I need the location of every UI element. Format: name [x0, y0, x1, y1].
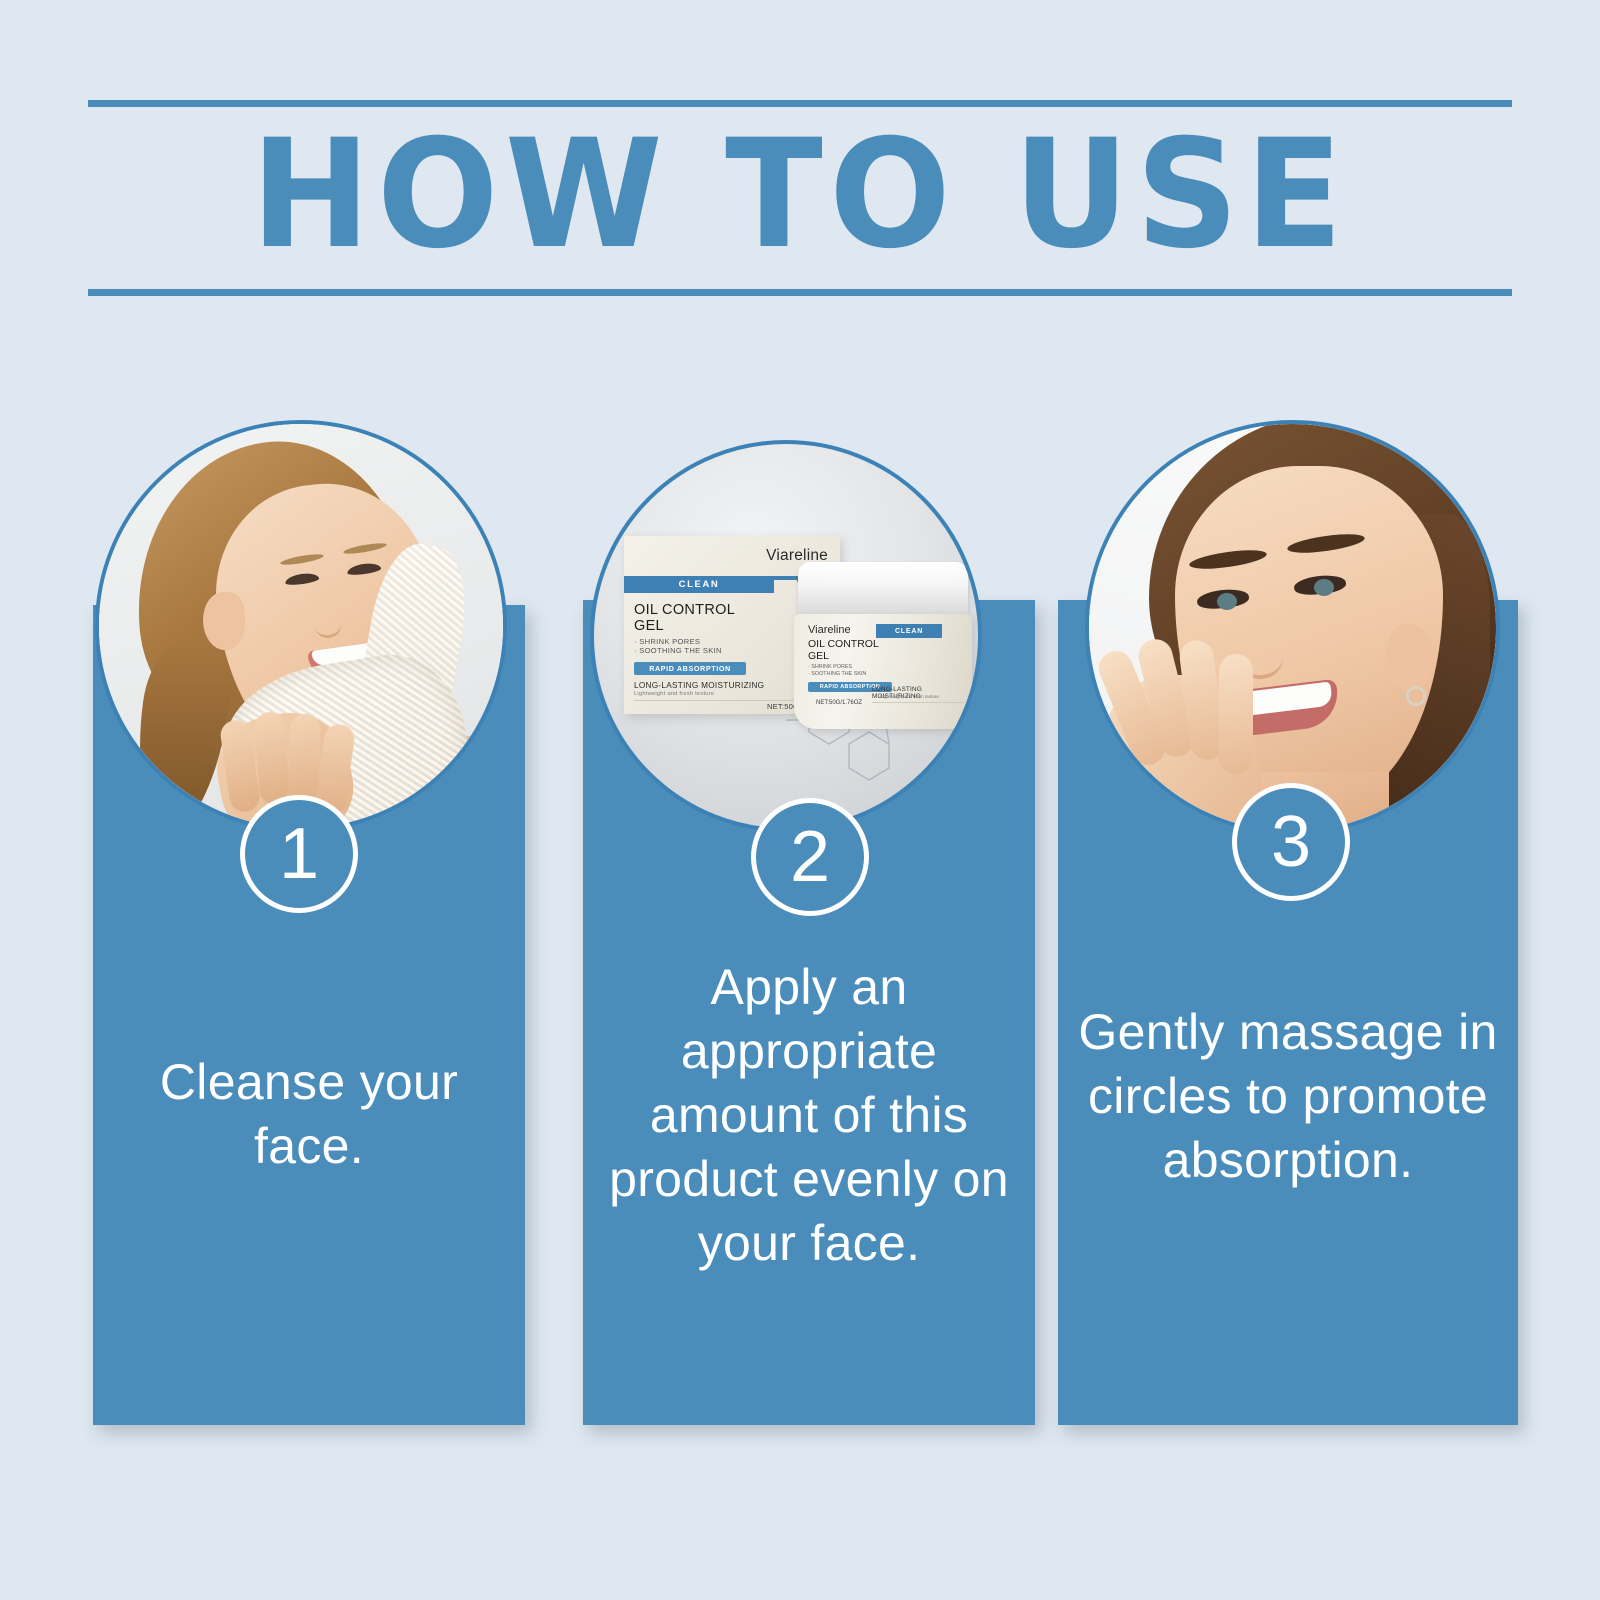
product-bullets-box: · SHRINK PORES · SOOTHING THE SKIN	[634, 637, 722, 656]
step-caption-1: Cleanse your face.	[113, 1050, 505, 1178]
header: HOW TO USE	[88, 100, 1512, 296]
product-name-line2-box: GEL	[634, 618, 735, 634]
product-banner-jar: CLEAN	[876, 624, 942, 638]
product-jar: Viareline OIL CONTROL GEL · SHRINK PORES…	[794, 562, 972, 732]
title-rule-bottom	[88, 289, 1512, 296]
infographic-root: HOW TO USE 1 Cleanse your face.	[0, 0, 1600, 1600]
product-pill-box: RAPID ABSORPTION	[634, 662, 746, 675]
photo-woman-massage	[1089, 424, 1496, 831]
jar-body: Viareline OIL CONTROL GEL · SHRINK PORES…	[794, 614, 972, 729]
product-name-line1-jar: OIL CONTROL	[808, 638, 879, 650]
product-banner-label-jar: CLEAN	[876, 624, 942, 638]
product-bullet1-jar: · SHRINK PORES	[808, 664, 866, 671]
page-title: HOW TO USE	[45, 107, 1554, 289]
step-caption-2: Apply an appropriate amount of this prod…	[603, 955, 1015, 1275]
product-name-jar: OIL CONTROL GEL	[808, 638, 879, 662]
photo-woman-towel	[99, 424, 503, 828]
product-bullets-jar: · SHRINK PORES · SOOTHING THE SKIN	[808, 664, 866, 678]
product-banner-box: CLEAN	[624, 576, 774, 593]
product-name-line2-jar: GEL	[808, 650, 879, 662]
step-image-2: Viareline CLEAN OIL CONTROL GEL · SHRINK…	[590, 440, 982, 832]
step-image-3	[1085, 420, 1500, 835]
step-number-badge-3: 3	[1232, 783, 1350, 901]
jar-lid	[798, 562, 968, 620]
product-bullet2-box: · SOOTHING THE SKIN	[634, 646, 722, 655]
product-bullet2-jar: · SOOTHING THE SKIN	[808, 671, 866, 678]
product-name-box: OIL CONTROL GEL	[634, 602, 735, 634]
product-shot: Viareline CLEAN OIL CONTROL GEL · SHRINK…	[594, 444, 978, 828]
step-number-badge-1: 1	[240, 795, 358, 913]
product-pill-label-box: RAPID ABSORPTION	[634, 662, 746, 675]
title-rule-top	[88, 100, 1512, 107]
step-number-badge-2: 2	[751, 798, 869, 916]
product-subclaim-box: Lightweight and fresh texture	[634, 691, 714, 697]
product-divider-jar	[872, 702, 964, 703]
product-net-jar: NET:50G/1.76OZ	[816, 700, 862, 706]
step-image-1	[95, 420, 507, 832]
product-name-line1-box: OIL CONTROL	[634, 602, 735, 618]
jar-lid-highlight	[808, 564, 966, 584]
product-brand-jar: Viareline	[808, 624, 851, 636]
step-caption-3: Gently massage in circles to promote abs…	[1078, 1000, 1498, 1192]
product-bullet1-box: · SHRINK PORES	[634, 637, 722, 646]
product-subclaim-jar: Lightweight and fresh texture	[880, 694, 939, 699]
product-claim-box: LONG-LASTING MOISTURIZING	[634, 681, 764, 690]
product-banner-label-box: CLEAN	[624, 576, 774, 593]
